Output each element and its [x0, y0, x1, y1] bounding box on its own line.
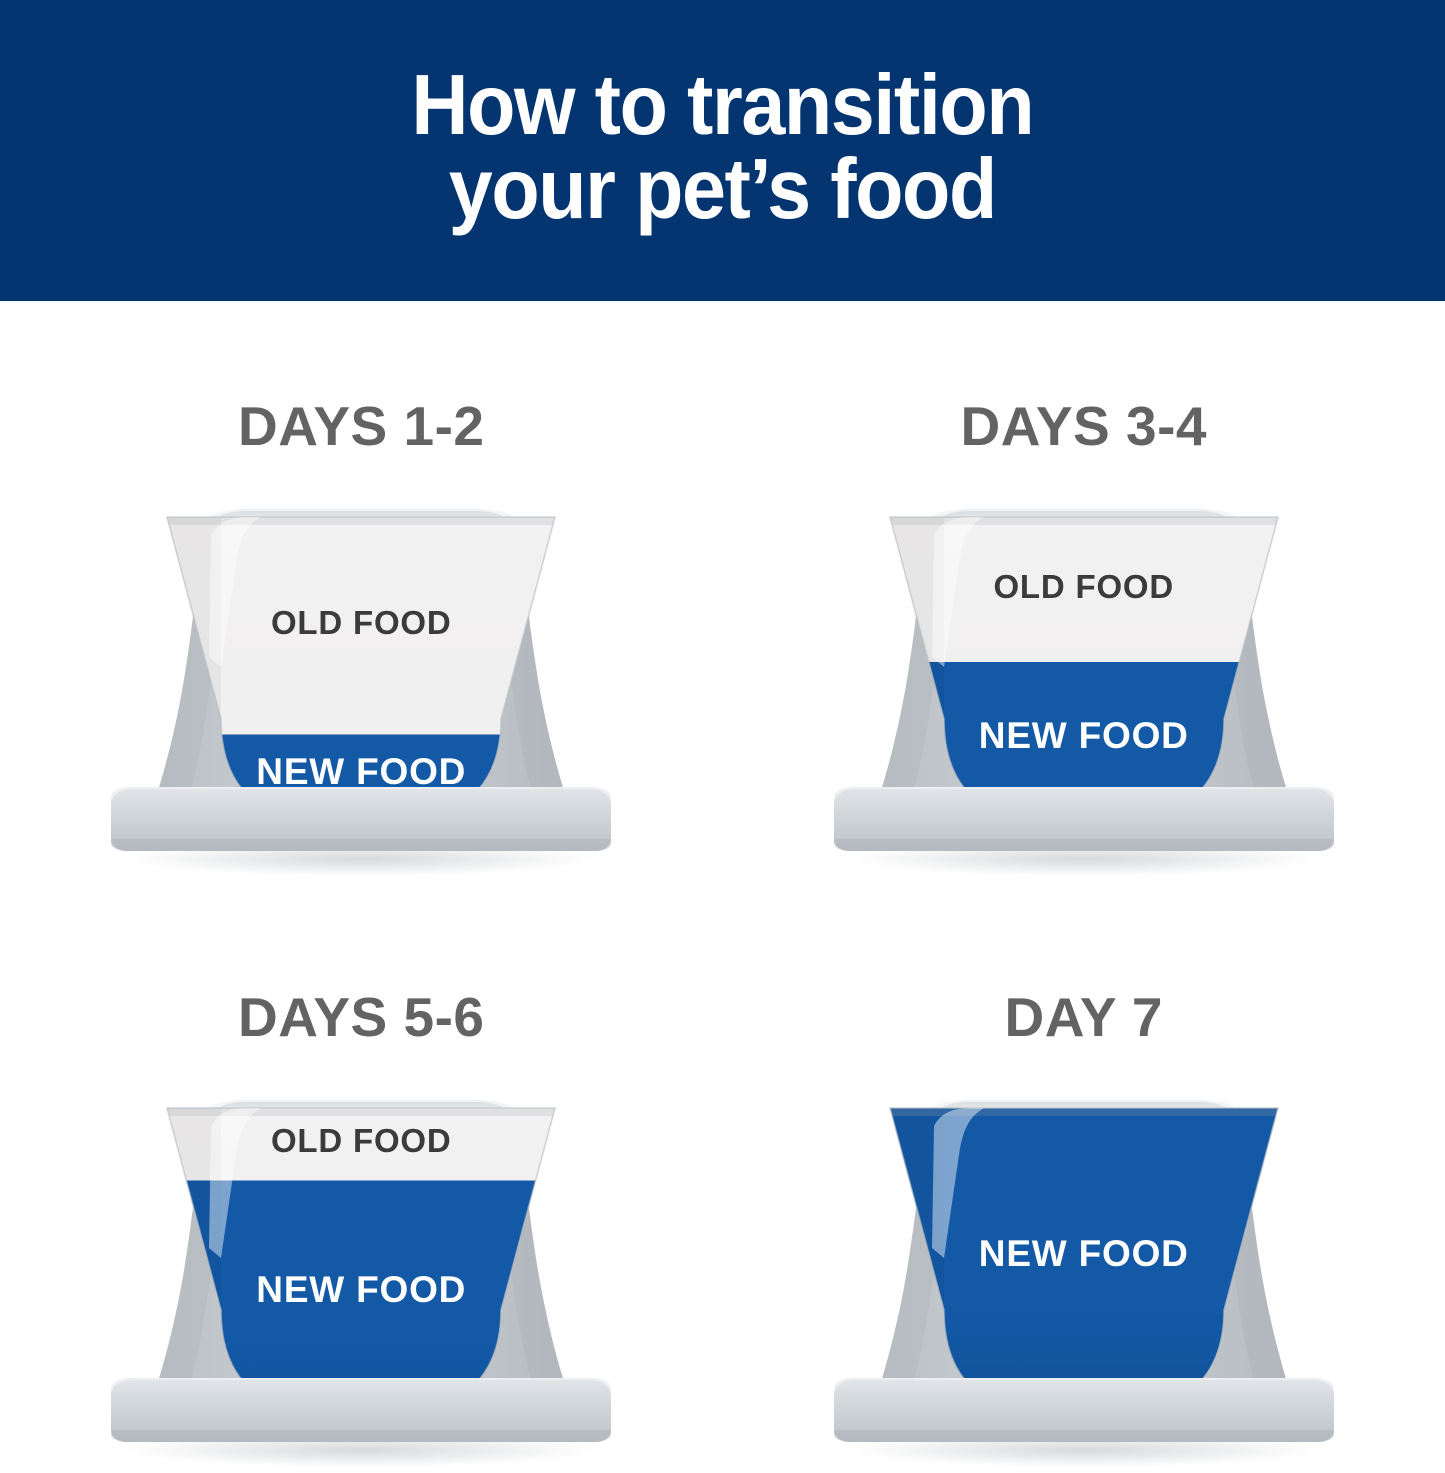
transition-steps-grid: DAYS 1-2	[0, 301, 1445, 1445]
header-banner: How to transition your pet’s food	[0, 0, 1445, 301]
food-bowl-days-3-4: OLD FOODNEW FOOD	[794, 487, 1374, 882]
food-bowl-days-5-6: OLD FOODNEW FOOD	[71, 1078, 651, 1473]
bowl-illustration	[794, 487, 1374, 882]
step-card-day-7: DAY 7	[723, 882, 1445, 1473]
page-title-line-2: your pet’s food	[412, 148, 1034, 231]
food-bowl-day-7: NEW FOOD	[794, 1078, 1374, 1473]
cavity-top-shadow	[71, 1108, 651, 1116]
bowl-foot-shadow	[834, 1430, 1334, 1442]
cavity-top-shadow	[71, 517, 651, 525]
food-bowl-days-1-2: OLD FOODNEW FOOD	[71, 487, 651, 882]
step-label-days-5-6: DAYS 5-6	[238, 990, 485, 1045]
step-label-days-3-4: DAYS 3-4	[960, 399, 1207, 454]
step-label-days-1-2: DAYS 1-2	[238, 399, 485, 454]
step-card-days-1-2: DAYS 1-2	[0, 301, 723, 882]
step-card-days-5-6: DAYS 5-6	[0, 882, 723, 1473]
bowl-foot-shadow	[111, 839, 611, 851]
bowl-illustration	[71, 1078, 651, 1473]
bowl-foot-shadow	[834, 839, 1334, 851]
cavity-top-shadow	[794, 1108, 1374, 1116]
bowl-foot-shadow	[111, 1430, 611, 1442]
page-title-line-1: How to transition	[412, 64, 1034, 147]
cavity-top-shadow	[794, 517, 1374, 525]
bowl-illustration	[794, 1078, 1374, 1473]
step-label-day-7: DAY 7	[1005, 990, 1163, 1045]
page-title: How to transition your pet’s food	[412, 64, 1034, 231]
bowl-illustration	[71, 487, 651, 882]
step-card-days-3-4: DAYS 3-4	[723, 301, 1445, 882]
